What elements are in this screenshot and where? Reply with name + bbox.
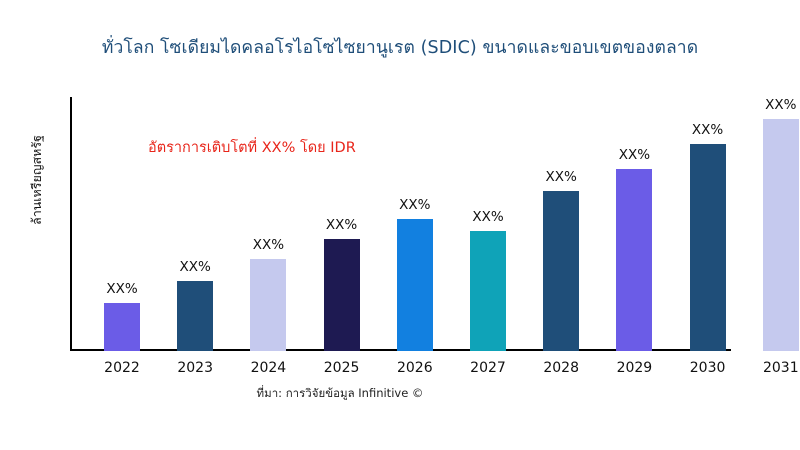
x-tick-2031: 2031 — [746, 360, 800, 376]
x-tick-2025: 2025 — [307, 360, 377, 376]
bar-2029[interactable] — [616, 169, 652, 351]
bar-value-label-2024: XX% — [253, 237, 284, 253]
x-tick-2028: 2028 — [526, 360, 596, 376]
y-axis-label: ล้านเหรียญสหรัฐ — [27, 135, 47, 225]
x-tick-2022: 2022 — [87, 360, 157, 376]
bar-value-label-2031: XX% — [765, 97, 796, 113]
bar-value-label-2025: XX% — [326, 217, 357, 233]
plot-area: อัตราการเติบโตที่ XX% โดย IDR XX%XX%XX%X… — [70, 97, 780, 351]
bar-2023[interactable] — [177, 281, 213, 351]
y-axis-line — [70, 97, 72, 351]
source-note: ที่มา: การวิจัยข้อมูล Infinitive © — [0, 385, 680, 403]
y-axis-label-container: ล้านเหรียญสหรัฐ — [26, 100, 48, 260]
x-tick-2030: 2030 — [673, 360, 743, 376]
bar-value-label-2022: XX% — [106, 281, 137, 297]
bar-chart: ทั่วโลก โซเดียมไดคลอโรไอโซไซยานูเรต (SDI… — [0, 0, 800, 450]
bar-2025[interactable] — [324, 239, 360, 351]
x-tick-2023: 2023 — [160, 360, 230, 376]
x-tick-2024: 2024 — [233, 360, 303, 376]
growth-rate-annotation: อัตราการเติบโตที่ XX% โดย IDR — [148, 136, 356, 159]
bar-value-label-2029: XX% — [619, 147, 650, 163]
bar-2024[interactable] — [250, 259, 286, 351]
bar-value-label-2028: XX% — [546, 169, 577, 185]
bar-value-label-2023: XX% — [180, 259, 211, 275]
x-tick-2027: 2027 — [453, 360, 523, 376]
x-tick-2026: 2026 — [380, 360, 450, 376]
bar-2028[interactable] — [543, 191, 579, 351]
bar-2031[interactable] — [763, 119, 799, 351]
x-tick-2029: 2029 — [599, 360, 669, 376]
bar-value-label-2027: XX% — [472, 209, 503, 225]
bar-value-label-2030: XX% — [692, 122, 723, 138]
chart-title: ทั่วโลก โซเดียมไดคลอโรไอโซไซยานูเรต (SDI… — [0, 36, 800, 60]
bar-2027[interactable] — [470, 231, 506, 351]
bar-2030[interactable] — [690, 144, 726, 351]
bar-2026[interactable] — [397, 219, 433, 351]
bar-value-label-2026: XX% — [399, 197, 430, 213]
bar-2022[interactable] — [104, 303, 140, 351]
